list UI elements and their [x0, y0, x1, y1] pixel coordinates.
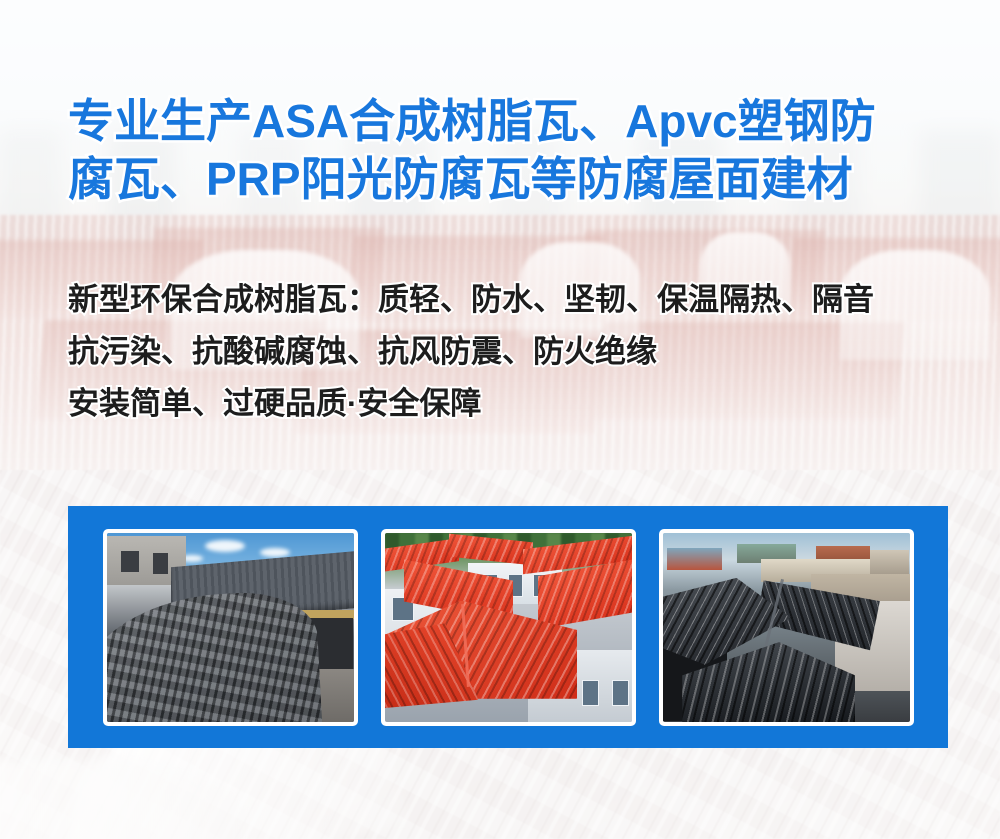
photo-grey-resin-tile-roof[interactable] [103, 529, 358, 726]
photo1-main-tile-roof [107, 589, 323, 722]
photo-black-resin-tile-roof-image [663, 533, 910, 722]
photo-black-resin-tile-roof[interactable] [659, 529, 914, 726]
feature-line-3: 安装简单、过硬品质·安全保障 [68, 378, 968, 430]
photo1-window [153, 553, 168, 574]
photo1-window [121, 551, 138, 572]
photo-gallery-panel [68, 506, 948, 748]
photo-grey-resin-tile-roof-image [107, 533, 354, 722]
photo1-cloud [260, 548, 290, 557]
photo2-window [612, 680, 629, 706]
feature-line-1: 新型环保合成树脂瓦：质轻、防水、坚韧、保温隔热、隔音 [68, 274, 968, 326]
feature-line-2: 抗污染、抗酸碱腐蚀、抗风防震、防火绝缘 [68, 326, 968, 378]
photo-red-resin-tile-roof-image [385, 533, 632, 722]
headline-line-2: 腐瓦、PRP阳光防腐瓦等防腐屋面建材 [68, 150, 948, 208]
photo3-distant-building [870, 550, 910, 576]
photo3-distant-building [667, 548, 721, 571]
headline-line-1: 专业生产ASA合成树脂瓦、Apvc塑钢防 [68, 92, 948, 150]
photo2-window [582, 680, 599, 706]
feature-list: 新型环保合成树脂瓦：质轻、防水、坚韧、保温隔热、隔音 抗污染、抗酸碱腐蚀、抗风防… [68, 274, 968, 430]
page-title: 专业生产ASA合成树脂瓦、Apvc塑钢防 腐瓦、PRP阳光防腐瓦等防腐屋面建材 [68, 92, 948, 208]
photo-red-resin-tile-roof[interactable] [381, 529, 636, 726]
